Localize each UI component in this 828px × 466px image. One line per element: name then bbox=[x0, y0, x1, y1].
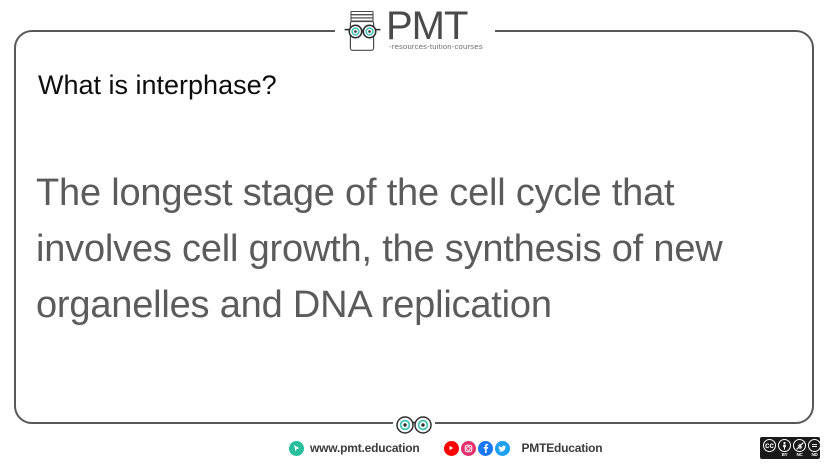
website-url[interactable]: www.pmt.education bbox=[310, 441, 420, 455]
cc-label-nc: NC bbox=[793, 452, 806, 458]
cc-nd-icon bbox=[808, 439, 821, 452]
pmt-logo: PMT -resources-tuition-courses bbox=[340, 6, 492, 56]
question-text: What is interphase? bbox=[38, 68, 277, 102]
cc-nc-icon: $ bbox=[793, 439, 806, 452]
cc-label-blank bbox=[763, 452, 776, 458]
cc-icon: cc bbox=[763, 439, 776, 452]
cc-by-icon bbox=[778, 439, 791, 452]
cc-label-nd: ND bbox=[808, 452, 821, 458]
facebook-icon[interactable] bbox=[478, 441, 493, 456]
instagram-icon[interactable] bbox=[461, 441, 476, 456]
cc-label-by: BY bbox=[778, 452, 791, 458]
social-links bbox=[444, 441, 510, 456]
answer-text: The longest stage of the cell cycle that… bbox=[36, 165, 776, 333]
website-cursor-icon bbox=[289, 441, 304, 456]
page-footer: www.pmt.education PMTE bbox=[0, 437, 828, 461]
logo-tagline: -resources-tuition-courses bbox=[389, 42, 483, 51]
pmt-jar-books-glasses-logo bbox=[340, 8, 386, 54]
youtube-icon[interactable] bbox=[444, 441, 459, 456]
creative-commons-badge[interactable]: cc $ BY NC ND bbox=[760, 437, 820, 459]
twitter-icon[interactable] bbox=[495, 441, 510, 456]
social-handle[interactable]: PMTEducation bbox=[522, 441, 603, 455]
glasses-badge-icon bbox=[393, 414, 435, 436]
